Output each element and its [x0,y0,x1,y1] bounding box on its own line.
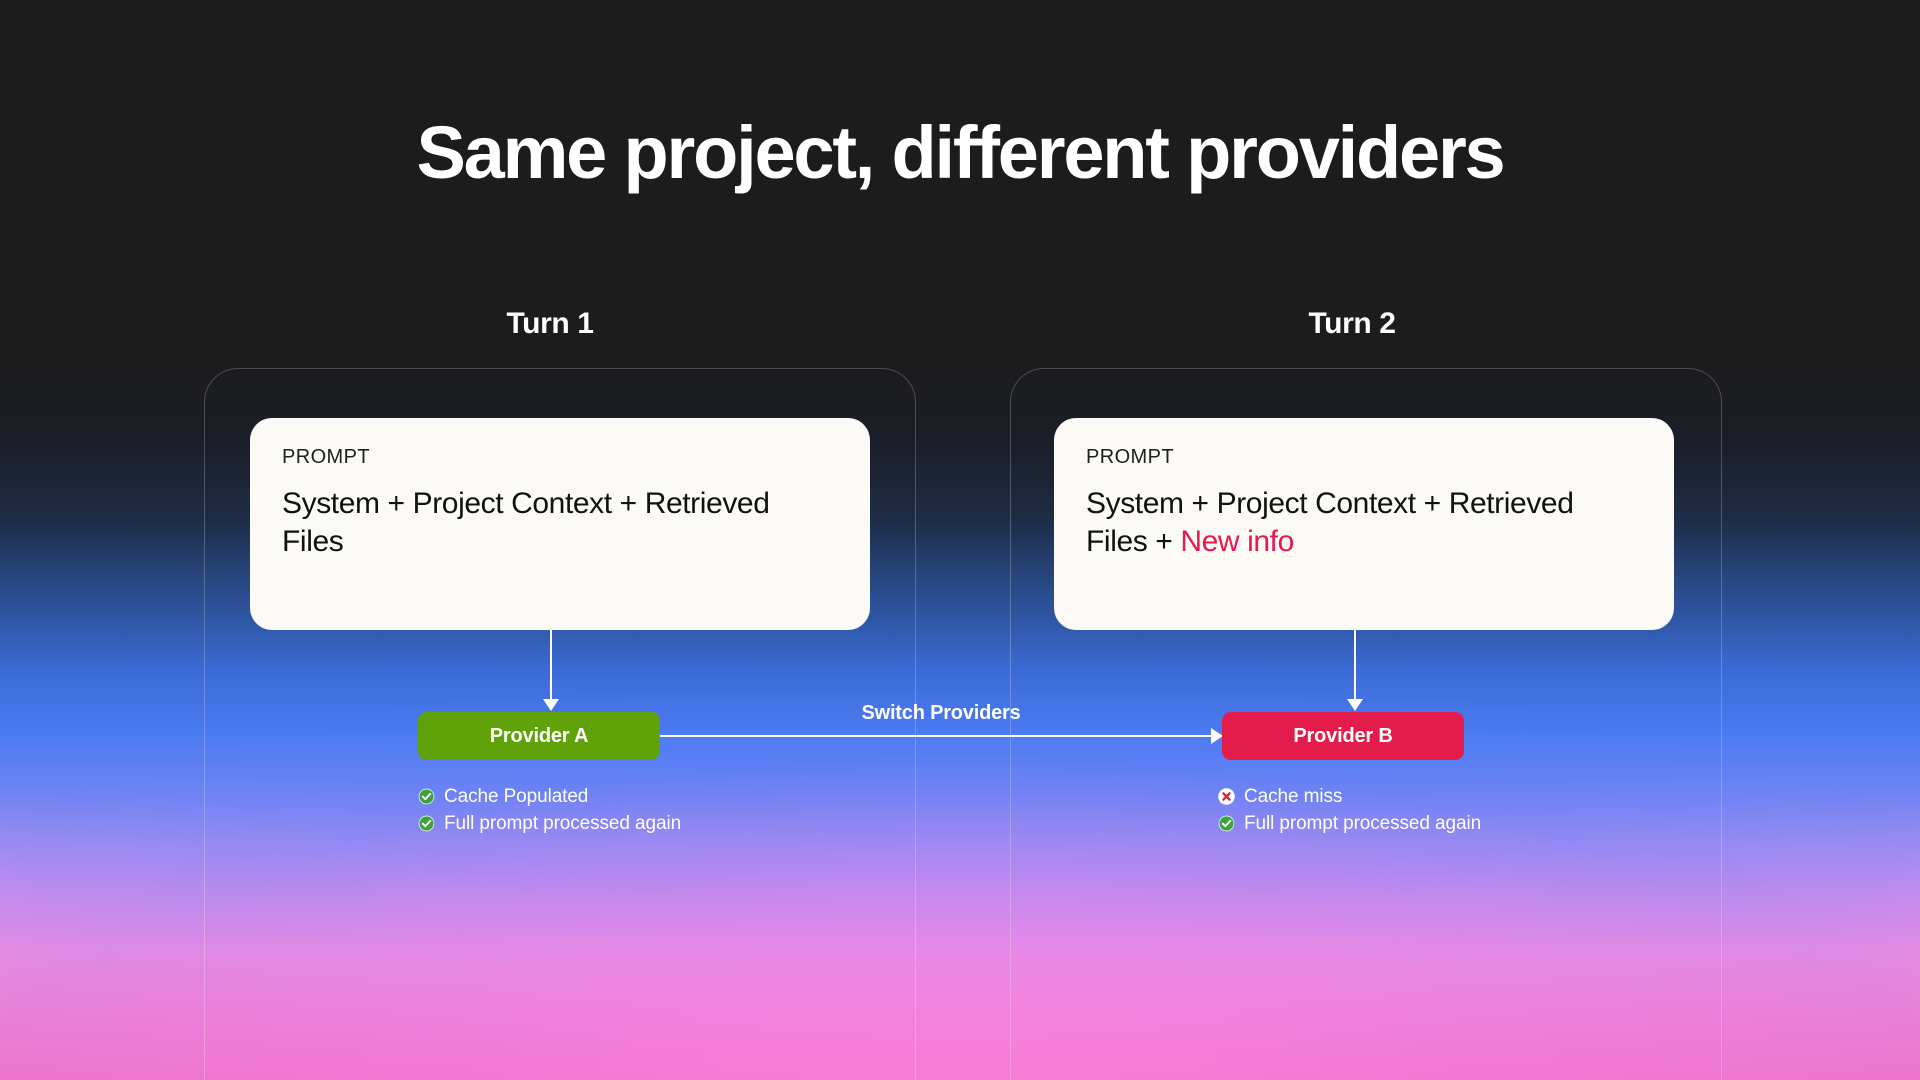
turn-2-prompt-highlight: New info [1180,525,1294,558]
turn-2-down-arrow-icon [1354,630,1356,710]
status-item: Full prompt processed again [1218,811,1481,836]
turn-2-status-list: Cache miss Full prompt processed again [1218,784,1481,838]
page-title: Same project, different providers [0,110,1920,195]
turn-2-label: Turn 2 [1222,307,1482,341]
status-item: Cache Populated [418,784,681,809]
turn-1-label: Turn 1 [420,307,680,341]
provider-a-label: Provider A [490,725,588,748]
arrow-shaft [550,630,552,710]
turn-1-down-arrow-icon [550,630,552,710]
check-circle-icon [418,815,435,832]
turn-2-prompt-body: System + Project Context + Retrieved Fil… [1086,485,1642,561]
check-circle-icon [418,788,435,805]
turn-1-prompt-kicker: PROMPT [282,446,838,469]
arrow-shaft [1354,630,1356,710]
arrow-head [543,699,559,711]
status-item-label: Cache Populated [444,784,588,809]
turn-1-status-list: Cache Populated Full prompt processed ag… [418,784,681,838]
turn-2-prompt-text: System + Project Context + Retrieved Fil… [1086,487,1574,558]
provider-b-button[interactable]: Provider B [1222,712,1464,760]
status-item-label: Full prompt processed again [1244,811,1481,836]
turn-1-prompt-text: System + Project Context + Retrieved Fil… [282,487,770,558]
turn-2-prompt-card: PROMPT System + Project Context + Retrie… [1054,418,1674,630]
provider-a-button[interactable]: Provider A [418,712,660,760]
diagram-stage: Same project, different providers Turn 1… [0,0,1920,1080]
provider-b-label: Provider B [1293,725,1392,748]
status-item-label: Full prompt processed again [444,811,681,836]
status-item: Cache miss [1218,784,1481,809]
arrow-head [1347,699,1363,711]
status-item-label: Cache miss [1244,784,1342,809]
check-circle-icon [1218,815,1235,832]
turn-2-prompt-kicker: PROMPT [1086,446,1642,469]
turn-1-prompt-body: System + Project Context + Retrieved Fil… [282,485,838,561]
status-item: Full prompt processed again [418,811,681,836]
x-circle-icon [1218,788,1235,805]
turn-1-prompt-card: PROMPT System + Project Context + Retrie… [250,418,870,630]
